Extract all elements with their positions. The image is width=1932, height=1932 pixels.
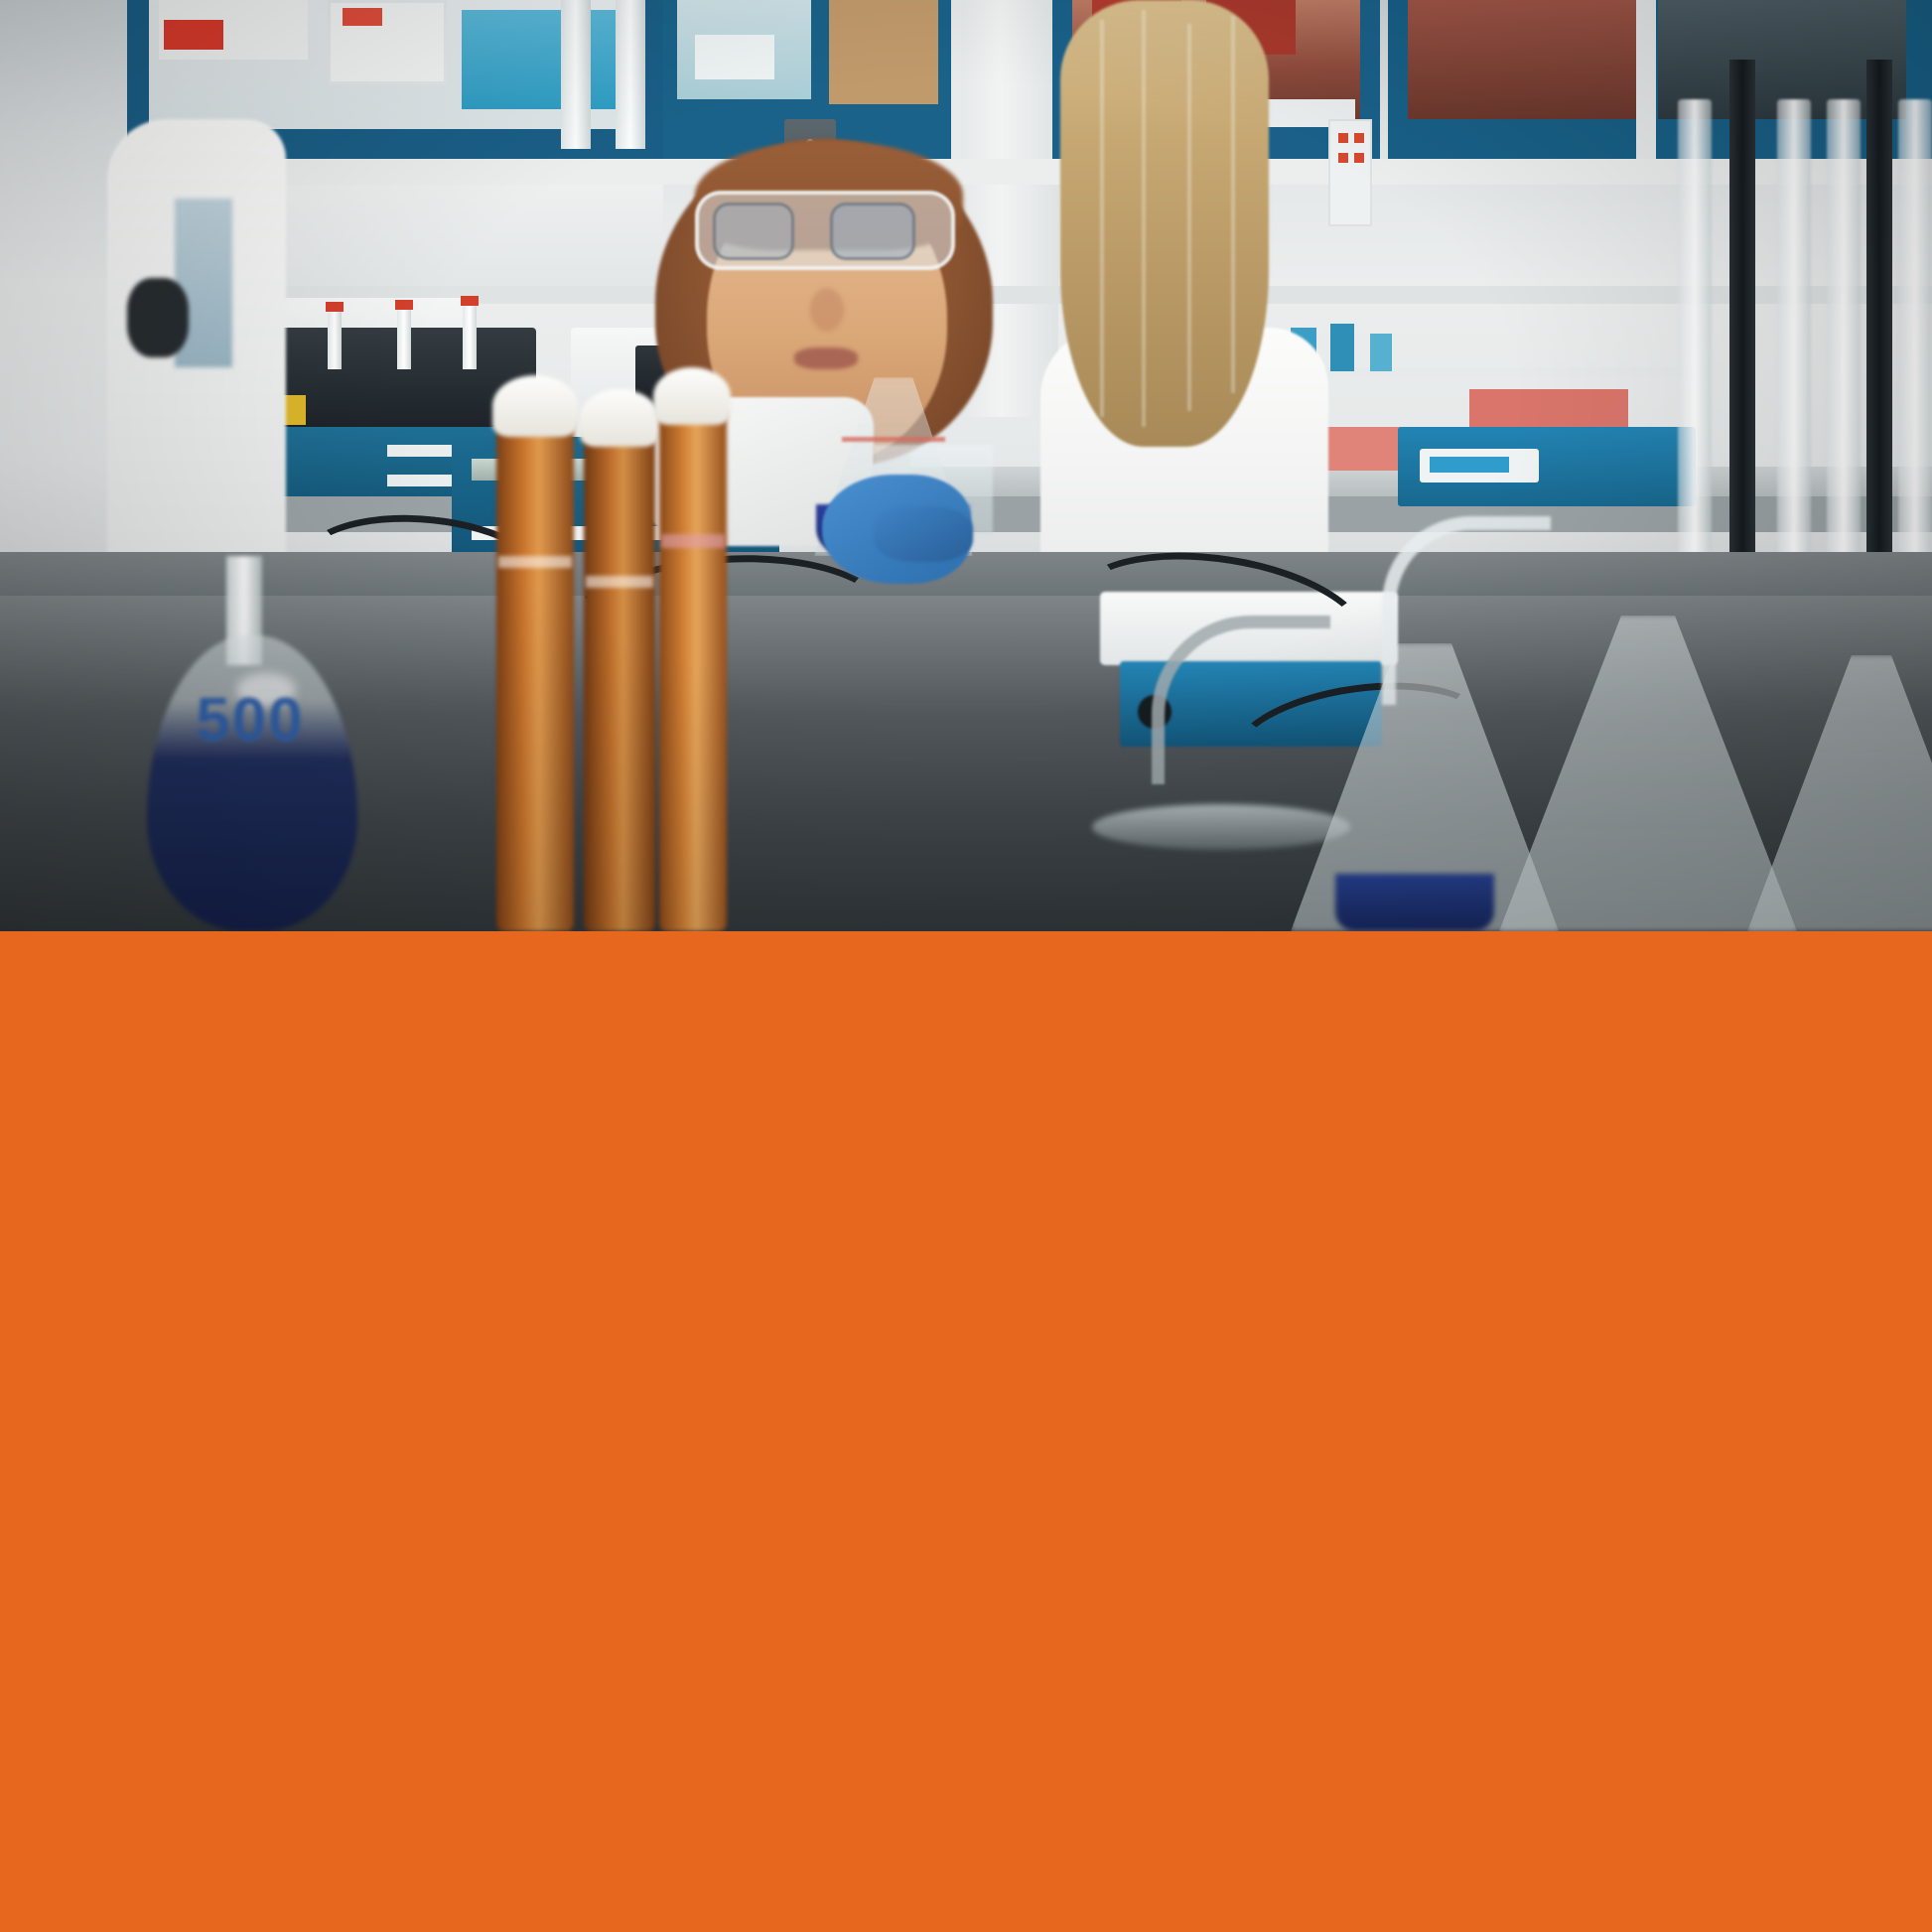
lab-photograph: 500 bbox=[0, 0, 1932, 931]
photo-vignette bbox=[0, 0, 1932, 931]
orange-content-panel: THERE IS A FINE LINE BETWEEN PASSION AND… bbox=[0, 931, 1932, 1932]
poster: 500 THERE IS A FINE LINE BETWEEN PASSION… bbox=[0, 0, 1932, 1932]
